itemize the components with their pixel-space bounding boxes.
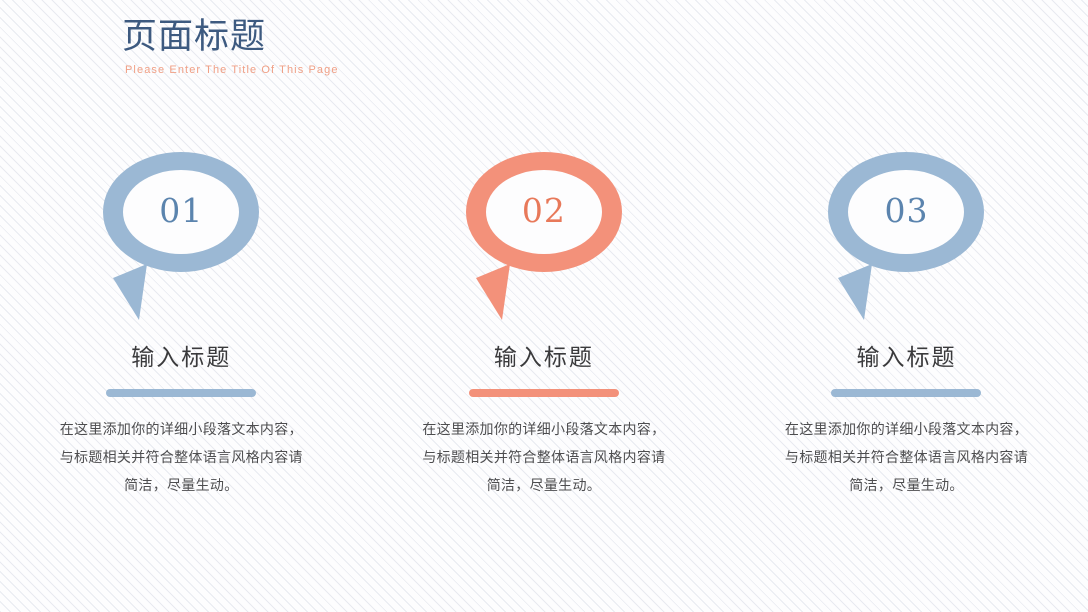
slide-canvas: 页面标题 Please Enter The Title Of This Page… [0, 0, 1088, 612]
column-title-03: 输入标题 [856, 343, 956, 373]
column-body-02: 在这里添加你的详细小段落文本内容，与标题相关并符合整体语言风格内容请简洁，尽量生… [420, 416, 668, 500]
bubble-number-03: 03 [826, 150, 986, 270]
column-body-03: 在这里添加你的详细小段落文本内容，与标题相关并符合整体语言风格内容请简洁，尽量生… [782, 416, 1030, 500]
column-divider-03 [831, 389, 981, 397]
column-divider-01 [106, 389, 256, 397]
speech-bubble-03[interactable]: 03 [826, 150, 986, 325]
content-column-03: 03 输入标题 在这里添加你的详细小段落文本内容，与标题相关并符合整体语言风格内… [725, 150, 1088, 500]
speech-bubble-01[interactable]: 01 [101, 150, 261, 325]
bubble-number-02: 02 [464, 150, 624, 270]
column-title-02: 输入标题 [494, 343, 594, 373]
column-title-01: 输入标题 [131, 343, 231, 373]
page-title: 页面标题 [122, 16, 339, 58]
speech-bubble-02[interactable]: 02 [464, 150, 624, 325]
column-body-01: 在这里添加你的详细小段落文本内容，与标题相关并符合整体语言风格内容请简洁，尽量生… [57, 416, 305, 500]
content-column-01: 01 输入标题 在这里添加你的详细小段落文本内容，与标题相关并符合整体语言风格内… [0, 150, 363, 500]
content-column-02: 02 输入标题 在这里添加你的详细小段落文本内容，与标题相关并符合整体语言风格内… [363, 150, 726, 500]
content-columns: 01 输入标题 在这里添加你的详细小段落文本内容，与标题相关并符合整体语言风格内… [0, 150, 1088, 500]
slide-header: 页面标题 Please Enter The Title Of This Page [122, 16, 339, 77]
bubble-number-01: 01 [101, 150, 261, 270]
column-divider-02 [469, 389, 619, 397]
page-subtitle: Please Enter The Title Of This Page [125, 63, 339, 77]
